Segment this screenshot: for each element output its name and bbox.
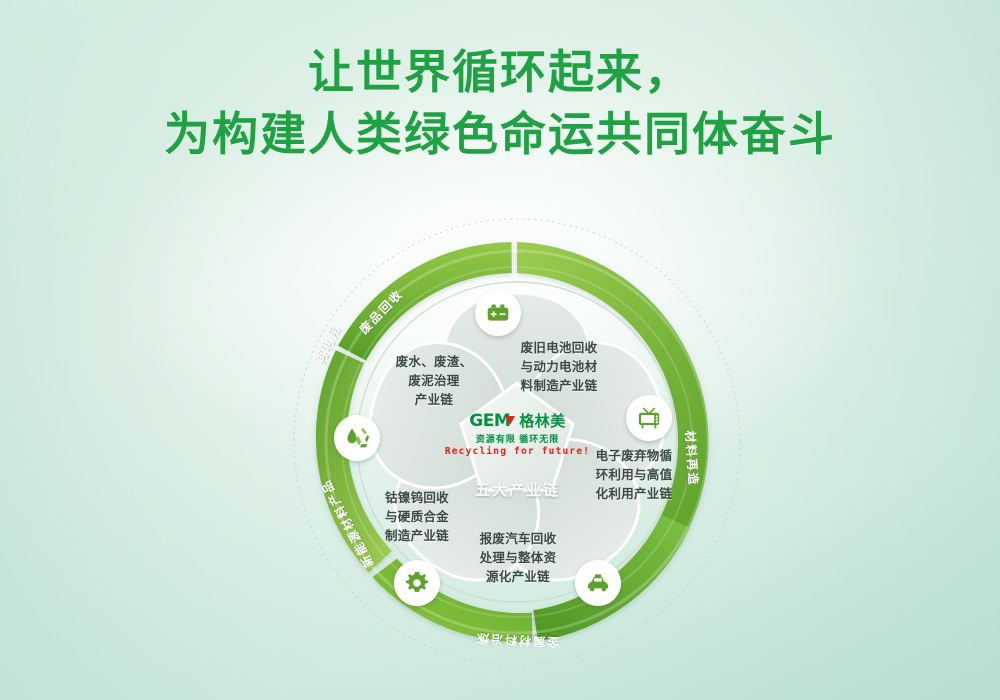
car-icon <box>585 570 611 596</box>
chain-label-ewaste: 电子废弃物循 环利用与高值 化利用产业链 <box>588 447 680 503</box>
gear-icon-bubble[interactable] <box>394 560 440 606</box>
chain-label-vehicle: 报废汽车回收 处理与整体资 源化产业链 <box>468 530 568 586</box>
battery-icon <box>485 300 511 326</box>
recycling-cycle-diagram: 废旧电池回收 与动力电池材 料制造产业链 电子废弃物循 环利用与高值 化利用产业… <box>290 215 745 670</box>
brand-logo-chinese: 格林美 <box>519 414 566 429</box>
centre-caption: 五大产业链 <box>440 479 595 500</box>
chain-label-battery: 废旧电池回收 与动力电池材 料制造产业链 <box>508 339 610 395</box>
page-title-line-1: 让世界循环起来， <box>0 42 1000 104</box>
page-title: 让世界循环起来， 为构建人类绿色命运共同体奋斗 <box>0 42 1000 165</box>
water-recycle-icon <box>344 425 370 451</box>
battery-icon-bubble[interactable] <box>475 290 521 336</box>
brand-slogan-en: Recycling for future! <box>440 446 595 457</box>
chain-label-wastewater: 废水、废渣、 废泥治理 产业链 <box>384 353 484 409</box>
water-recycle-icon-bubble[interactable] <box>334 415 380 461</box>
brand-logo: GEM 格林美 <box>440 413 595 430</box>
page-title-line-2: 为构建人类绿色命运共同体奋斗 <box>0 104 1000 166</box>
brand-slogan-cn: 资源有限 循环无限 <box>440 432 595 445</box>
centre-brand-block: GEM 格林美 资源有限 循环无限 Recycling for future! … <box>440 413 595 500</box>
tv-icon-bubble[interactable] <box>626 395 672 441</box>
car-icon-bubble[interactable] <box>575 560 621 606</box>
brand-logo-latin: GEM <box>469 413 510 430</box>
brand-logo-triangle-icon <box>505 416 515 425</box>
tv-icon <box>636 405 662 431</box>
gear-icon <box>404 570 430 596</box>
